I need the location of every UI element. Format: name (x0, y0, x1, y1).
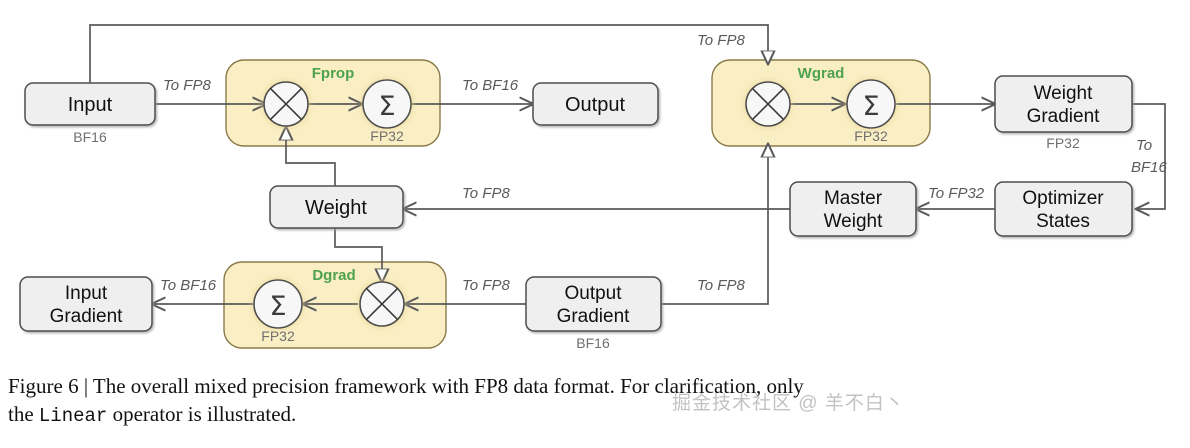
wgrad-accumulate-node: Σ (847, 80, 895, 128)
label-weightgrad-to-optimizer-2: BF16 (1131, 159, 1168, 176)
node-optimizer-states[interactable]: Optimizer States (995, 182, 1132, 236)
label-masterweight-to-weight: To FP8 (462, 185, 510, 202)
group-wgrad: Wgrad (712, 60, 930, 146)
edge-weightgradient-to-optimizer (1132, 104, 1165, 209)
node-optimizer-states-label-1: Optimizer (1022, 188, 1104, 209)
wgrad-multiply-node (746, 82, 790, 126)
node-master-weight-label-2: Weight (824, 211, 884, 232)
node-input-subscript: BF16 (73, 129, 107, 145)
node-output[interactable]: Output (533, 83, 658, 125)
label-outputgrad-to-dgrad: To FP8 (462, 277, 510, 294)
fprop-multiply-node (264, 82, 308, 126)
caption-line-2-post: operator is illustrated. (107, 402, 296, 426)
node-master-weight-label-1: Master (824, 188, 883, 209)
fprop-accum-label: FP32 (370, 128, 404, 144)
node-weight-gradient-label-1: Weight (1034, 83, 1094, 104)
sigma-glyph: Σ (269, 291, 286, 322)
node-input-gradient-label-1: Input (65, 283, 108, 304)
label-input-to-fprop: To FP8 (163, 77, 211, 94)
group-label-wgrad: Wgrad (798, 65, 845, 82)
caption-operator-name: Linear (39, 405, 107, 427)
node-input-label: Input (68, 94, 113, 116)
group-label-dgrad: Dgrad (312, 267, 355, 284)
node-optimizer-states-label-2: States (1036, 211, 1090, 232)
node-output-gradient-label-2: Gradient (557, 306, 631, 327)
sigma-glyph: Σ (862, 91, 879, 122)
node-input[interactable]: Input (25, 83, 155, 125)
fprop-accumulate-node: Σ (363, 80, 411, 128)
wgrad-accum-label: FP32 (854, 128, 888, 144)
label-input-to-wgrad: To FP8 (697, 32, 745, 49)
node-weight[interactable]: Weight (270, 186, 403, 228)
node-master-weight[interactable]: Master Weight (790, 182, 916, 236)
node-input-gradient-label-2: Gradient (50, 306, 124, 327)
dgrad-multiply-node (360, 282, 404, 326)
figure-caption: Figure 6 | The overall mixed precision f… (8, 372, 1183, 430)
node-output-label: Output (565, 94, 625, 116)
diagram-svg: Fprop Wgrad Dgrad (0, 0, 1190, 368)
caption-line-2-pre: the (8, 402, 39, 426)
node-output-gradient-label-1: Output (564, 283, 622, 304)
node-output-gradient[interactable]: Output Gradient (526, 277, 661, 331)
label-dgrad-to-inputgrad: To BF16 (160, 277, 217, 294)
figure-canvas: Fprop Wgrad Dgrad (0, 0, 1190, 448)
dgrad-accum-label: FP32 (261, 328, 295, 344)
node-weight-label: Weight (305, 197, 367, 219)
caption-line-1: Figure 6 | The overall mixed precision f… (8, 374, 804, 398)
label-weightgrad-to-optimizer-1: To (1136, 137, 1152, 154)
label-optimizer-to-masterweight: To FP32 (928, 185, 985, 202)
node-input-gradient[interactable]: Input Gradient (20, 277, 152, 331)
node-weight-gradient[interactable]: Weight Gradient (995, 76, 1132, 132)
node-output-gradient-subscript: BF16 (576, 335, 610, 351)
label-outputgrad-to-wgrad: To FP8 (697, 277, 745, 294)
sigma-glyph: Σ (378, 91, 395, 122)
dgrad-accumulate-node: Σ (254, 280, 302, 328)
group-label-fprop: Fprop (312, 65, 355, 82)
node-weight-gradient-subscript: FP32 (1046, 135, 1080, 151)
node-weight-gradient-label-2: Gradient (1027, 106, 1101, 127)
label-fprop-to-output: To BF16 (462, 77, 519, 94)
